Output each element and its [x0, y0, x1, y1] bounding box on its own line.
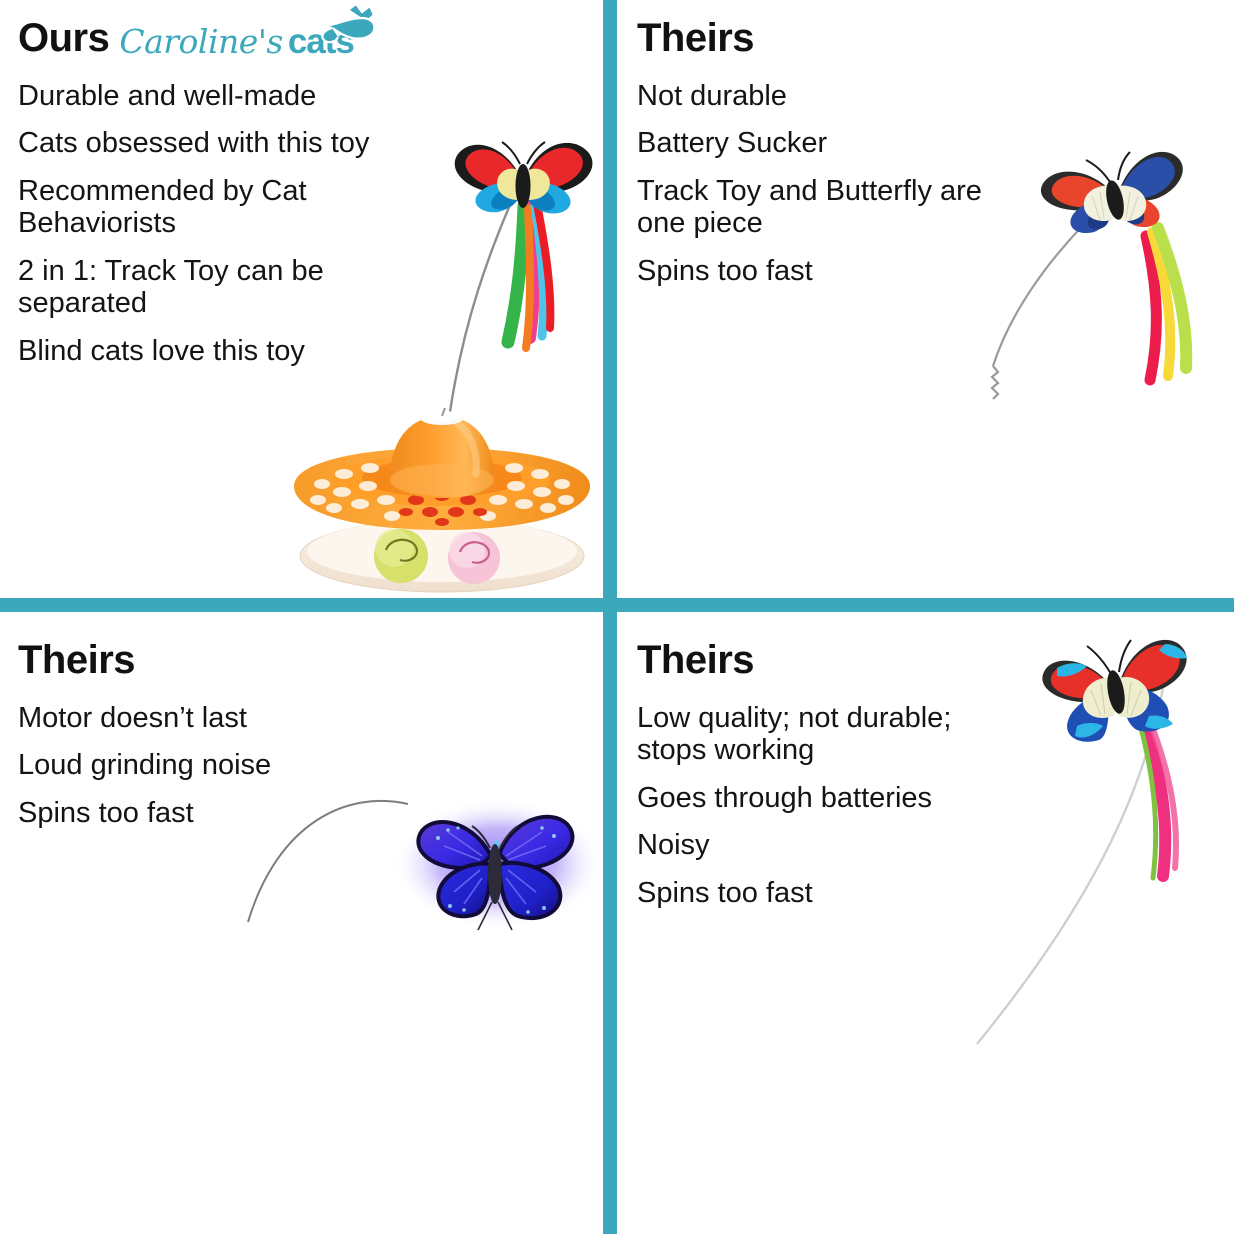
theirs2-heading: Theirs — [18, 640, 135, 680]
orange-track-toy-image — [282, 408, 602, 598]
butterfly-body — [1086, 152, 1130, 221]
glowing-blue-butterfly-icon — [386, 798, 602, 934]
red-blue-butterfly-icon — [1017, 630, 1222, 885]
vertical-divider — [603, 0, 617, 1234]
theirs3-bullet-3: Noisy — [637, 829, 1017, 861]
butterfly-ribbons — [1141, 724, 1176, 878]
butterfly-body — [502, 142, 545, 208]
ours-bullet-5: Blind cats love this toy — [18, 335, 448, 367]
theirs2-bullet-2: Loud grinding noise — [18, 749, 271, 781]
quadrant-theirs-3: Theirs Low quality; not durable; stops w… — [617, 612, 1234, 1234]
theirs3-heading: Theirs — [637, 640, 754, 680]
theirs3-bullet-1: Low quality; not durable; stops working — [637, 702, 1017, 767]
theirs2-bullet-3: Spins too fast — [18, 797, 271, 829]
ours-bullet-3: Recommended by Cat Behaviorists — [18, 175, 448, 240]
theirs3-bullet-4: Spins too fast — [637, 877, 1017, 909]
butterfly-body — [472, 826, 518, 930]
quadrant-ours: Ours Caroline's cats — [0, 0, 603, 598]
quadrant-theirs-2: Theirs Motor doesn’t last Loud grinding … — [0, 612, 603, 1234]
theirs1-bullet-3: Track Toy and Butterfly are one piece — [637, 175, 1029, 240]
theirs3-bullet-2: Goes through batteries — [637, 782, 1017, 814]
ours-bullet-1: Durable and well-made — [18, 80, 448, 112]
theirs1-heading: Theirs — [637, 18, 754, 58]
brand-logo: Caroline's cats — [119, 24, 354, 59]
quadrant-theirs-1: Theirs Not durable Battery Sucker Track … — [617, 0, 1234, 598]
comparison-chart: Ours Caroline's cats — [0, 0, 1234, 1234]
blue-red-butterfly-icon — [1020, 140, 1220, 398]
ours-heading: Ours — [18, 18, 109, 58]
theirs3-header-row: Theirs — [637, 640, 1017, 692]
theirs1-header-row: Theirs — [637, 18, 1029, 70]
theirs3-text-block: Theirs Low quality; not durable; stops w… — [637, 640, 1017, 924]
ours-bullet-4: 2 in 1: Track Toy can be separated — [18, 255, 448, 320]
butterfly-ribbons — [508, 204, 550, 348]
butterfly-body — [1087, 640, 1131, 715]
horizontal-divider — [0, 598, 1234, 612]
butterfly-ribbons — [1146, 228, 1186, 380]
butterfly-wings — [1042, 640, 1187, 742]
rainbow-butterfly-icon — [442, 128, 603, 353]
theirs1-bullet-2: Battery Sucker — [637, 127, 1029, 159]
theirs1-text-block: Theirs Not durable Battery Sucker Track … — [637, 18, 1029, 302]
ours-text-block: Ours Caroline's cats — [18, 18, 448, 382]
theirs2-bullet-1: Motor doesn’t last — [18, 702, 271, 734]
theirs2-text-block: Theirs Motor doesn’t last Loud grinding … — [18, 640, 271, 844]
theirs1-bullet-1: Not durable — [637, 80, 1029, 112]
butterfly-wings — [455, 143, 593, 214]
logo-cats-text: cats — [288, 24, 354, 59]
ours-bullet-2: Cats obsessed with this toy — [18, 127, 448, 159]
butterfly-wings — [418, 817, 572, 918]
cat-silhouette-icon — [318, 2, 380, 48]
logo-script-text: Caroline's — [119, 25, 282, 58]
theirs2-header-row: Theirs — [18, 640, 271, 692]
ours-header-row: Ours Caroline's cats — [18, 18, 448, 70]
butterfly-wings — [1041, 152, 1183, 233]
theirs1-bullet-4: Spins too fast — [637, 255, 1029, 287]
